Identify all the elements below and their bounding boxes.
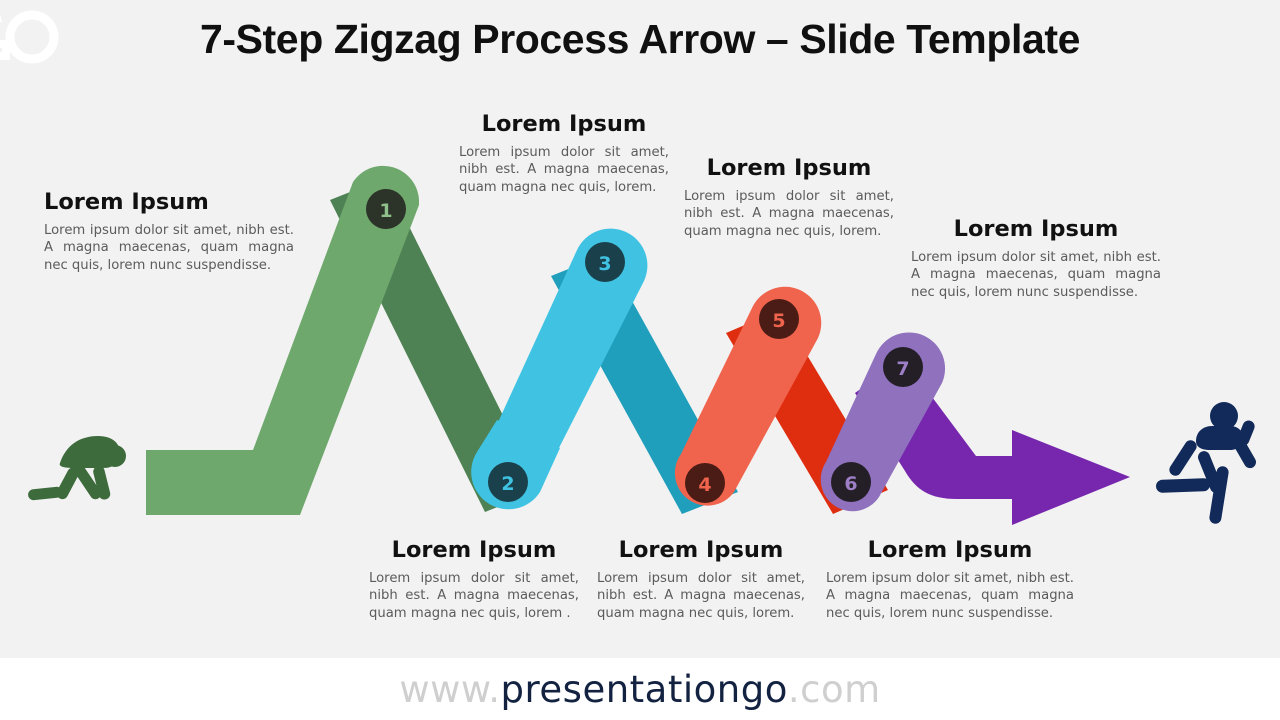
callout-step-2-title: Lorem Ipsum (459, 112, 669, 137)
slide-canvas: 7-Step Zigzag Process Arrow – Slide Temp… (0, 0, 1280, 720)
callout-step-7: Lorem Ipsum Lorem ipsum dolor sit amet, … (826, 538, 1074, 622)
step-badge-3[interactable]: 3 (585, 242, 625, 282)
callout-step-7-body: Lorem ipsum dolor sit amet, nibh est. A … (826, 570, 1074, 623)
callout-step-3-body: Lorem ipsum dolor sit amet, nibh est. A … (684, 188, 894, 241)
step-badge-7-number: 7 (896, 358, 909, 380)
step-badge-1-number: 1 (379, 200, 392, 222)
callout-step-7-title: Lorem Ipsum (826, 538, 1074, 563)
step-badge-1[interactable]: 1 (366, 189, 406, 229)
callout-step-4: Lorem Ipsum Lorem ipsum dolor sit amet, … (911, 217, 1161, 301)
step-badge-7[interactable]: 7 (883, 347, 923, 387)
running-person-icon (1156, 402, 1258, 525)
callout-step-6-title: Lorem Ipsum (597, 538, 805, 563)
callout-step-4-body: Lorem ipsum dolor sit amet, nibh est. A … (911, 249, 1161, 302)
step-badge-2[interactable]: 2 (488, 462, 528, 502)
footer-url-suffix: .com (788, 668, 881, 711)
step-badge-3-number: 3 (598, 253, 611, 275)
callout-step-1-title: Lorem Ipsum (44, 190, 294, 215)
callout-step-1-body: Lorem ipsum dolor sit amet, nibh est. A … (44, 222, 294, 275)
callout-step-3-title: Lorem Ipsum (684, 156, 894, 181)
callout-step-5: Lorem Ipsum Lorem ipsum dolor sit amet, … (369, 538, 579, 622)
step-badge-2-number: 2 (501, 473, 514, 495)
callout-step-5-title: Lorem Ipsum (369, 538, 579, 563)
step-badge-5[interactable]: 5 (759, 299, 799, 339)
callout-step-5-body: Lorem ipsum dolor sit amet, nibh est. A … (369, 570, 579, 623)
footer-website-url[interactable]: www.presentationgo.com (0, 658, 1280, 720)
step-badge-5-number: 5 (772, 310, 785, 332)
callout-step-2: Lorem Ipsum Lorem ipsum dolor sit amet, … (459, 112, 669, 196)
callout-step-2-body: Lorem ipsum dolor sit amet, nibh est. A … (459, 144, 669, 197)
callout-step-1: Lorem Ipsum Lorem ipsum dolor sit amet, … (44, 190, 294, 274)
crouching-sprinter-icon (28, 436, 126, 501)
step-badge-6-number: 6 (844, 473, 857, 495)
step-badge-4-number: 4 (698, 474, 711, 496)
footer-url-name: presentationgo (501, 668, 788, 711)
step-badge-6[interactable]: 6 (831, 462, 871, 502)
step-badge-4[interactable]: 4 (685, 463, 725, 503)
callout-step-3: Lorem Ipsum Lorem ipsum dolor sit amet, … (684, 156, 894, 240)
callout-step-6: Lorem Ipsum Lorem ipsum dolor sit amet, … (597, 538, 805, 622)
callout-step-6-body: Lorem ipsum dolor sit amet, nibh est. A … (597, 570, 805, 623)
callout-step-4-title: Lorem Ipsum (911, 217, 1161, 242)
footer-url-prefix: www. (399, 668, 500, 711)
